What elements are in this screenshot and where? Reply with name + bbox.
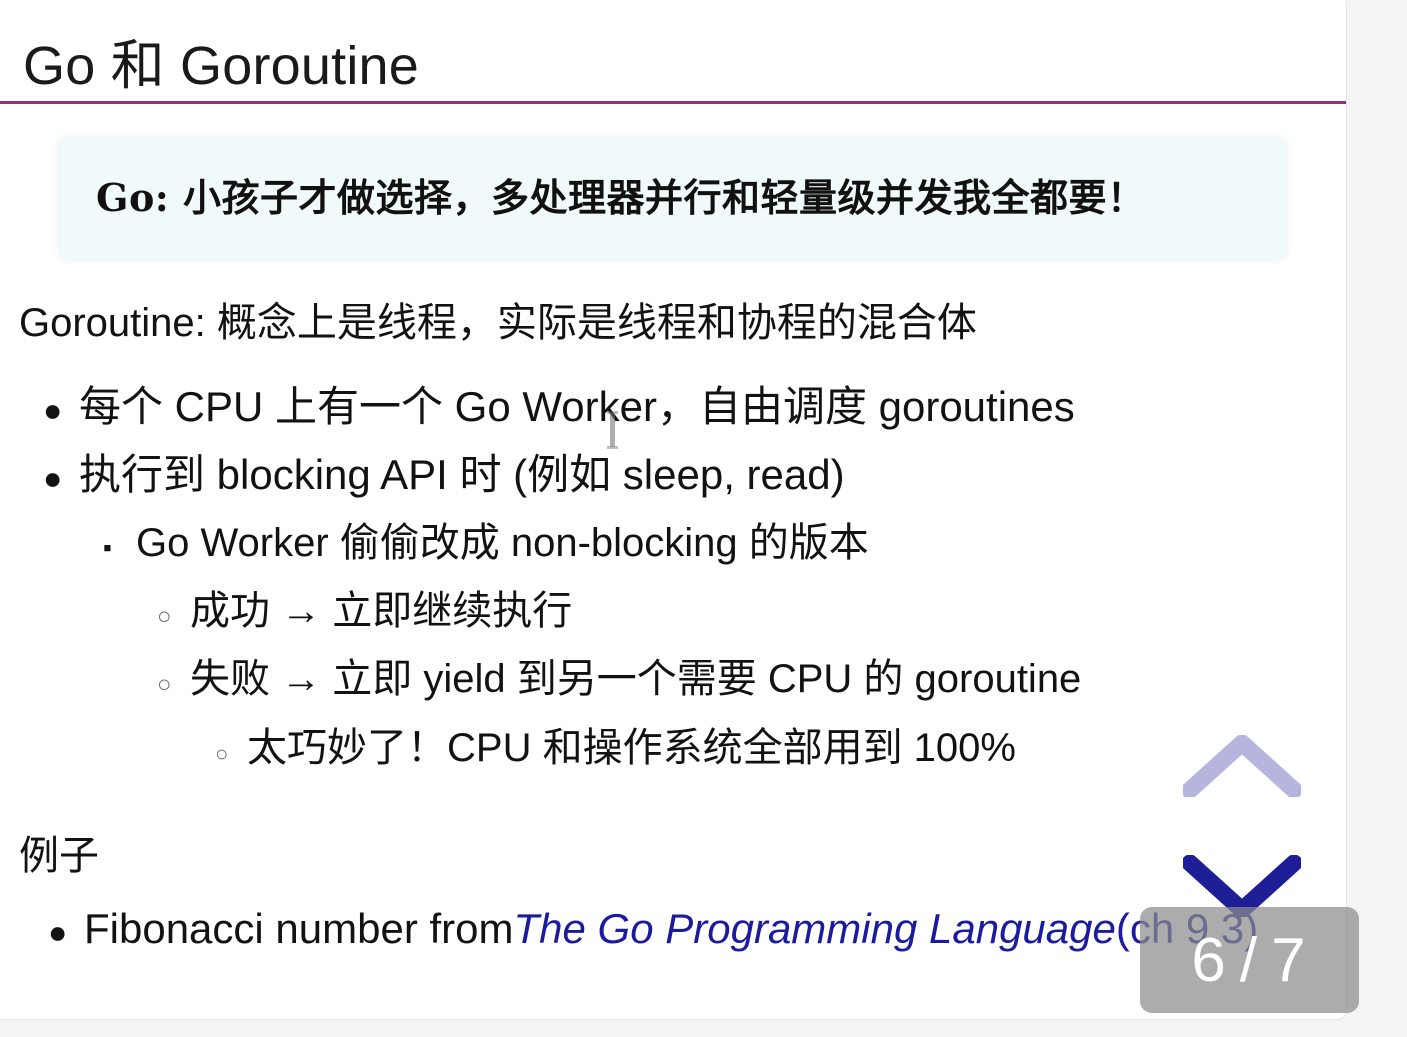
page-current: 6 [1191,925,1227,996]
list-item: ○ 成功 → 立即继续执行 [157,578,572,636]
list-item-label: Go Worker 偷偷改成 non-blocking 的版本 [136,510,869,568]
lead-paragraph: Goroutine: 概念上是线程，实际是线程和协程的混合体 [19,290,977,348]
list-item: ● 每个 CPU 上有一个 Go Worker，自由调度 goroutines [43,373,1075,434]
examples-heading: 例子 [19,823,99,881]
slide-card: Go 和 Goroutine Go: 小孩子才做选择，多处理器并行和轻量级并发我… [0,0,1347,1020]
list-item: ● 执行到 blocking API 时 (例如 sleep, read) [43,441,845,502]
page-title: Go 和 Goroutine [23,21,419,100]
quote-text: Go: 小孩子才做选择，多处理器并行和轻量级并发我全都要！ [96,167,1146,222]
bullet-disc-icon: ● [48,916,84,948]
page-total: 7 [1271,925,1307,996]
list-item-label: 失败 → 立即 yield 到另一个需要 CPU 的 goroutine [190,646,1081,704]
list-item: ▪ Go Worker 偷偷改成 non-blocking 的版本 [103,510,869,568]
bullet-disc-icon: ● [43,462,79,494]
list-item: ● Fibonacci number from The Go Programmi… [48,905,1258,953]
book-title-link[interactable]: The Go Programming Language [514,905,1116,953]
bullet-circle-icon: ○ [157,605,190,629]
page-indicator: 6 / 7 [1140,907,1359,1013]
bullet-circle-icon: ○ [157,673,190,697]
bullet-square-icon: ▪ [103,536,136,561]
slide-viewport: Go 和 Goroutine Go: 小孩子才做选择，多处理器并行和轻量级并发我… [0,0,1407,1037]
bullet-circle-icon: ○ [215,743,247,765]
title-divider [0,101,1347,104]
list-item-label: 执行到 blocking API 时 (例如 sleep, read) [79,441,845,502]
list-item-label: 每个 CPU 上有一个 Go Worker，自由调度 goroutines [79,373,1075,434]
quote-callout: Go: 小孩子才做选择，多处理器并行和轻量级并发我全都要！ [58,136,1287,259]
list-item-label: 太巧妙了！CPU 和操作系统全部用到 100% [247,715,1016,773]
list-item: ○ 失败 → 立即 yield 到另一个需要 CPU 的 goroutine [157,646,1081,704]
list-item-label: 成功 → 立即继续执行 [190,578,572,636]
text-cursor-caret [610,413,615,447]
example-prefix-label: Fibonacci number from [84,905,514,953]
chevron-up-icon[interactable] [1183,735,1301,797]
bullet-disc-icon: ● [43,394,79,426]
page-separator: / [1228,925,1271,996]
list-item: ○ 太巧妙了！CPU 和操作系统全部用到 100% [215,715,1016,773]
